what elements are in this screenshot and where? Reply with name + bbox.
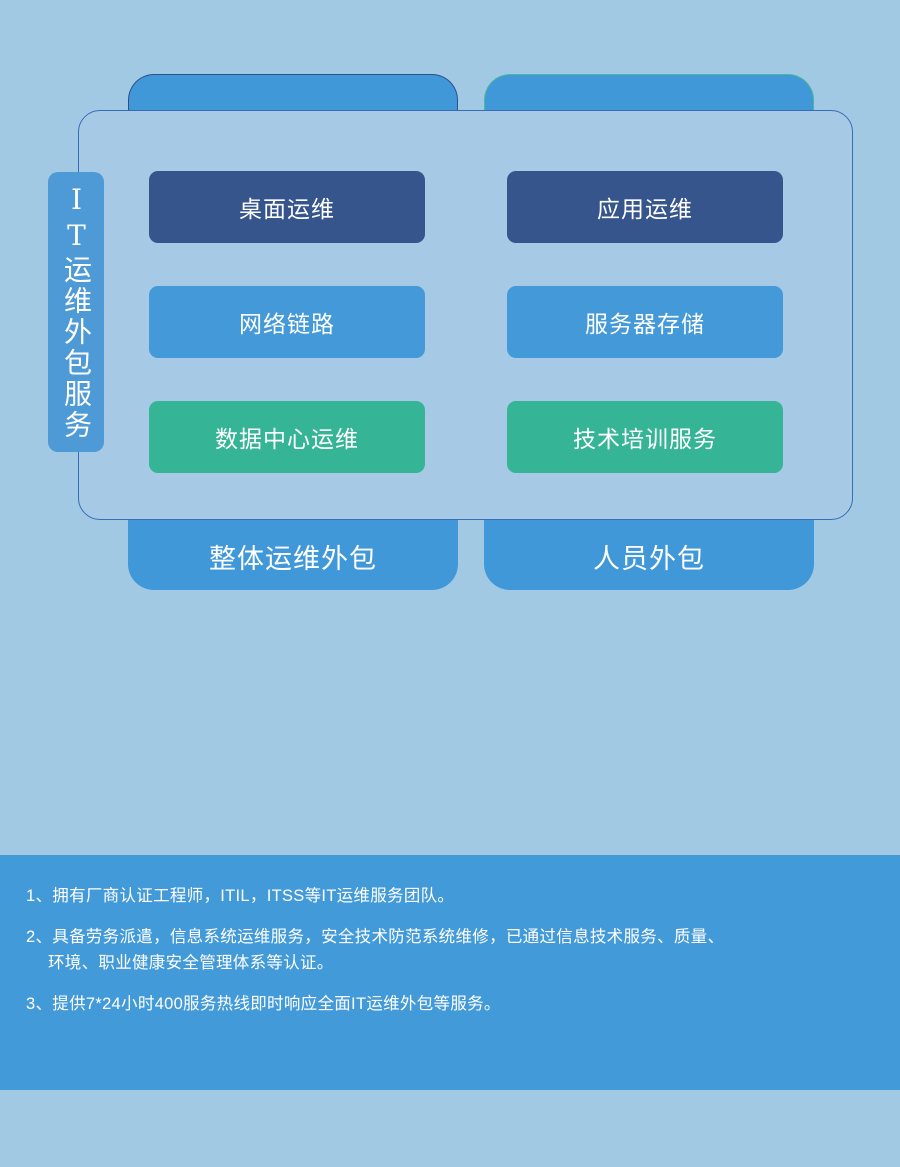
note-line-1: 1、拥有厂商认证工程师，ITIL，ITSS等IT运维服务团队。 (26, 887, 454, 905)
note-line-1: 3、提供7*24小时400服务热线即时响应全面IT运维外包等服务。 (26, 995, 501, 1013)
bottom-tab-label-overall-outsourcing: 整体运维外包 (209, 537, 377, 576)
service-box-label: 服务器存储 (585, 305, 705, 339)
note-item-1: 1、拥有厂商认证工程师，ITIL，ITSS等IT运维服务团队。 (26, 883, 874, 910)
side-label-text: IT运维外包服务 (62, 183, 90, 441)
bottom-tab-label-staff-outsourcing: 人员外包 (593, 537, 705, 576)
note-line-2: 环境、职业健康安全管理体系等认证。 (48, 954, 334, 972)
service-box-application-ops[interactable]: 应用运维 (507, 171, 783, 243)
service-box-label: 应用运维 (597, 190, 693, 224)
note-item-3: 3、提供7*24小时400服务热线即时响应全面IT运维外包等服务。 (26, 991, 874, 1018)
notes-panel: 1、拥有厂商认证工程师，ITIL，ITSS等IT运维服务团队。 2、具备劳务派遣… (0, 855, 900, 1090)
service-box-label: 技术培训服务 (573, 420, 717, 454)
service-box-server-storage[interactable]: 服务器存储 (507, 286, 783, 358)
note-line-1: 2、具备劳务派遣，信息系统运维服务，安全技术防范系统维修，已通过信息技术服务、质… (26, 928, 724, 946)
service-box-tech-training[interactable]: 技术培训服务 (507, 401, 783, 473)
service-box-grid: 桌面运维 应用运维 网络链路 服务器存储 数据中心运维 技术培训服务 (149, 171, 783, 473)
note-item-2: 2、具备劳务派遣，信息系统运维服务，安全技术防范系统维修，已通过信息技术服务、质… (26, 924, 874, 977)
service-box-label: 网络链路 (239, 305, 335, 339)
service-box-label: 桌面运维 (239, 190, 335, 224)
service-box-datacenter-ops[interactable]: 数据中心运维 (149, 401, 425, 473)
service-box-desktop-ops[interactable]: 桌面运维 (149, 171, 425, 243)
service-box-network-link[interactable]: 网络链路 (149, 286, 425, 358)
service-diagram: 整体运维外包 人员外包 IT运维外包服务 桌面运维 应用运维 网络链路 服务器存… (0, 0, 900, 620)
side-label-it-outsourcing: IT运维外包服务 (48, 172, 104, 452)
service-box-label: 数据中心运维 (215, 420, 359, 454)
